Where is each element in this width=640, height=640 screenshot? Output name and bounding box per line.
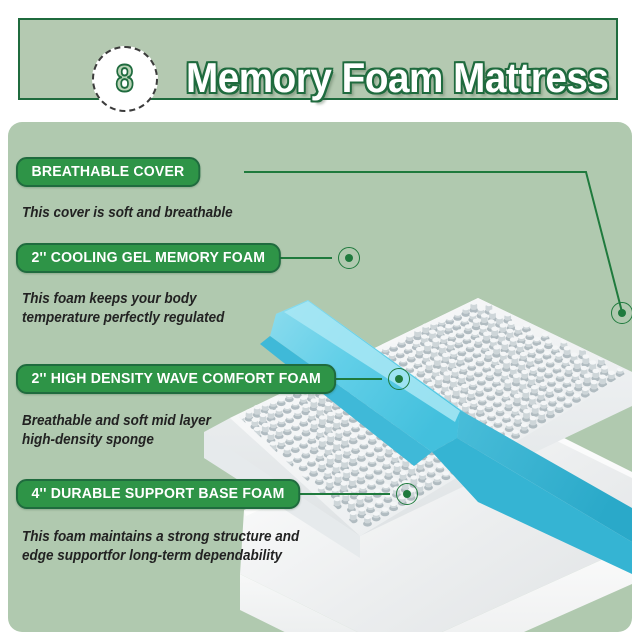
label-breathable-cover[interactable]: BREATHABLE COVER bbox=[16, 157, 200, 187]
page-title: Memory Foam Mattress bbox=[186, 42, 591, 114]
marker-breathable-cover[interactable] bbox=[611, 302, 632, 324]
description-cooling-gel-memory-foam: This foam keeps your body temperature pe… bbox=[22, 290, 224, 328]
description-durable-support-base-foam: This foam maintains a strong structure a… bbox=[22, 528, 299, 566]
label-high-density-wave-comfort-foam[interactable]: 2'' HIGH DENSITY WAVE COMFORT FOAM bbox=[16, 364, 336, 394]
marker-durable-support-base-foam[interactable] bbox=[396, 483, 418, 505]
label-durable-support-base-foam[interactable]: 4'' DURABLE SUPPORT BASE FOAM bbox=[16, 479, 300, 509]
marker-cooling-gel-memory-foam[interactable] bbox=[338, 247, 360, 269]
description-high-density-wave-comfort-foam: Breathable and soft mid layer high-densi… bbox=[22, 412, 211, 450]
label-cooling-gel-memory-foam[interactable]: 2'' COOLING GEL MEMORY FOAM bbox=[16, 243, 281, 273]
step-number-label: 8 bbox=[116, 60, 134, 98]
description-breathable-cover: This cover is soft and breathable bbox=[22, 204, 233, 223]
main-panel: BREATHABLE COVER This cover is soft and … bbox=[8, 122, 632, 632]
infographic-root: 8 Memory Foam Mattress bbox=[0, 0, 640, 640]
marker-high-density-wave-comfort-foam[interactable] bbox=[388, 368, 410, 390]
header-banner: 8 Memory Foam Mattress bbox=[18, 18, 618, 100]
egg-crate-texture bbox=[8, 122, 13, 125]
step-number-badge: 8 bbox=[92, 46, 158, 112]
